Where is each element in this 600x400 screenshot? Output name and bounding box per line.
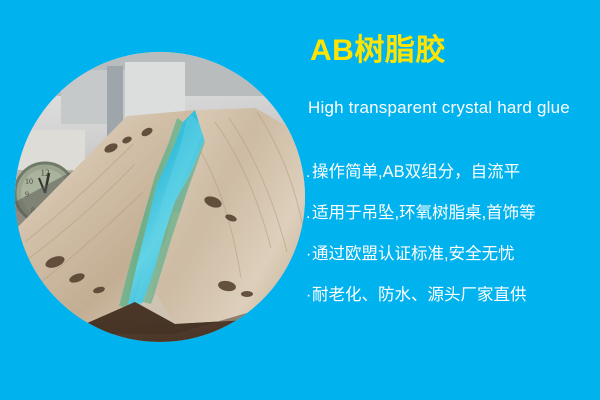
photo-illustration: 12 9 8 10 (15, 52, 305, 342)
svg-text:10: 10 (25, 177, 33, 186)
list-item: · 耐老化、防水、源头厂家直供 (306, 275, 600, 316)
list-item: . 操作简单,AB双组分，自流平 (306, 152, 600, 193)
subtitle: High transparent crystal hard glue (308, 99, 570, 116)
epoxy-river-table-photo: 12 9 8 10 (15, 52, 305, 342)
list-item: · 通过欧盟认证标准,安全无忧 (306, 234, 600, 275)
feature-list: . 操作简单,AB双组分，自流平 . 适用于吊坠,环氧树脂桌,首饰等 · 通过欧… (306, 152, 600, 316)
text-column: AB树脂胶 High transparent crystal hard glue… (306, 0, 600, 400)
feature-text: 通过欧盟认证标准,安全无忧 (312, 246, 515, 263)
feature-text: 耐老化、防水、源头厂家直供 (312, 287, 527, 304)
page-title: AB树脂胶 (310, 36, 446, 66)
feature-text: 适用于吊坠,环氧树脂桌,首饰等 (312, 205, 536, 222)
list-item: . 适用于吊坠,环氧树脂桌,首饰等 (306, 193, 600, 234)
feature-text: 操作简单,AB双组分，自流平 (312, 164, 520, 181)
product-banner: 12 9 8 10 (0, 0, 600, 400)
